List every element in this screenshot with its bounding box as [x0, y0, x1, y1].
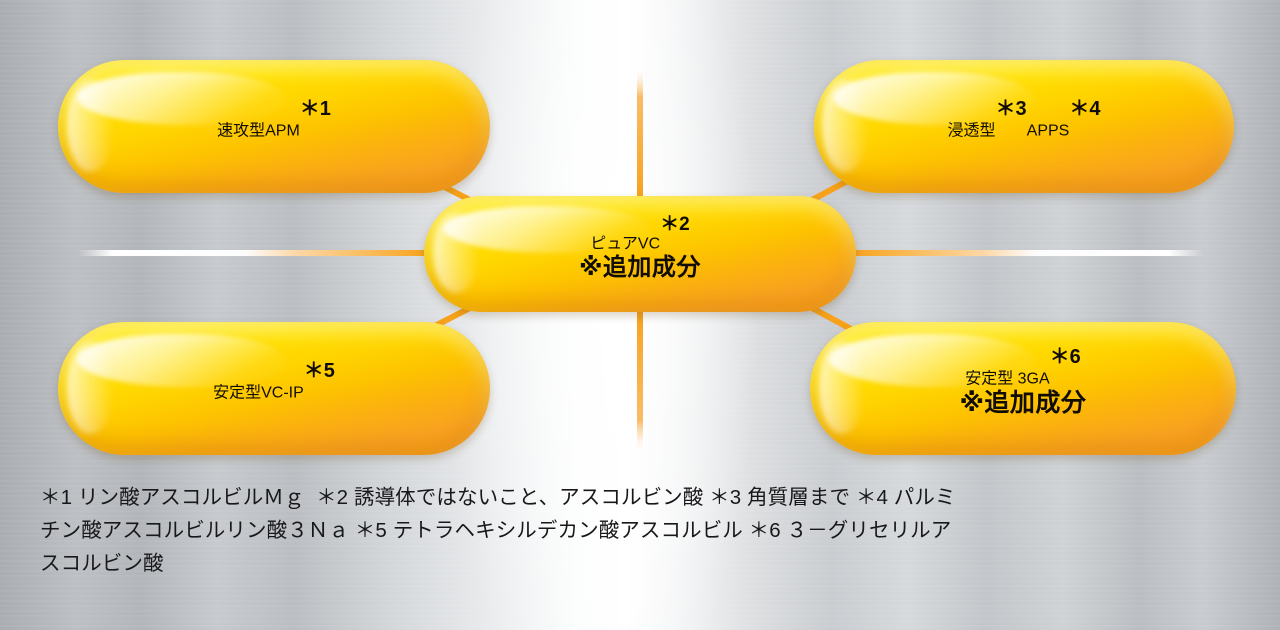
node-apps-label-b: APPS: [1027, 122, 1070, 139]
rail-left: [78, 250, 428, 256]
node-capsule-vcip[interactable]: 安定型VC-IP＊5: [58, 322, 490, 455]
center-label: ピュアVC: [590, 235, 660, 252]
node-capsule-apm[interactable]: 速攻型APM＊1: [58, 60, 490, 193]
center-footnote-ref: ＊2: [660, 214, 690, 235]
rail-right: [852, 250, 1204, 256]
stem-top: [637, 68, 643, 198]
node-apm-footnote-ref: ＊1: [300, 98, 331, 120]
node-capsule-3ga[interactable]: 安定型 3GA＊6 ※追加成分: [810, 322, 1236, 455]
center-main-text: ピュアVC＊2: [590, 227, 690, 253]
footnote-line-1: ＊1 リン酸アスコルビルＭｇ ＊2 誘導体ではないこと、アスコルビン酸 ＊3 角…: [40, 481, 1256, 514]
node-vcip-footnote-ref: ＊5: [304, 360, 335, 382]
node-apps-text: 浸透型＊3APPS＊4: [948, 113, 1101, 140]
center-subtitle: ※追加成分: [579, 255, 701, 280]
stem-bottom: [637, 310, 643, 452]
node-apm-text: 速攻型APM＊1: [217, 113, 331, 140]
node-vcip-label: 安定型VC-IP: [213, 384, 304, 401]
diagram-canvas: 速攻型APM＊1 浸透型＊3APPS＊4 ピュアVC＊2 ※追加成分 安定型VC…: [0, 0, 1280, 630]
node-apps-label-a: 浸透型: [948, 122, 996, 139]
footnote-line-2: チン酸アスコルビルリン酸３Ｎａ ＊5 テトラヘキシルデカン酸アスコルビル ＊6 …: [40, 514, 1256, 547]
node-apps-footnote-ref-a: ＊3: [996, 98, 1027, 120]
node-apm-label: 速攻型APM: [217, 122, 300, 139]
node-3ga-label: 安定型 3GA: [965, 370, 1049, 387]
center-capsule-pure-vc[interactable]: ピュアVC＊2 ※追加成分: [424, 196, 856, 312]
node-3ga-text: 安定型 3GA＊6: [965, 361, 1081, 388]
footnote-block: ＊1 リン酸アスコルビルＭｇ ＊2 誘導体ではないこと、アスコルビン酸 ＊3 角…: [40, 481, 1256, 580]
footnote-line-3: スコルビン酸: [40, 547, 1256, 580]
node-capsule-apps[interactable]: 浸透型＊3APPS＊4: [814, 60, 1234, 193]
node-apps-footnote-ref-b: ＊4: [1069, 98, 1100, 120]
node-3ga-subtitle: ※追加成分: [960, 390, 1087, 417]
node-3ga-footnote-ref: ＊6: [1050, 346, 1081, 368]
node-vcip-text: 安定型VC-IP＊5: [213, 375, 335, 402]
